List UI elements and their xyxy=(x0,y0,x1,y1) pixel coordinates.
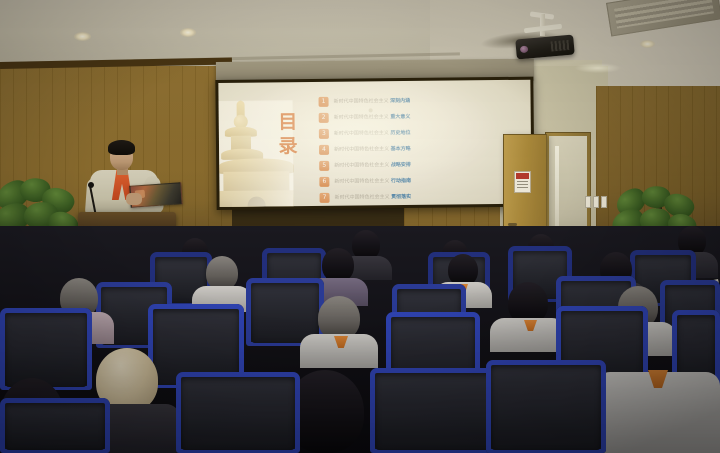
toc-item-text: 新时代中国特色社会主义 行动指南 xyxy=(334,175,411,186)
toc-number-badge: 7 xyxy=(320,192,330,202)
toc-number-badge: 6 xyxy=(319,176,329,186)
ceiling-light-spot xyxy=(575,63,621,73)
downlight-icon xyxy=(640,40,655,48)
light-switch[interactable] xyxy=(585,196,591,208)
microphone-icon xyxy=(88,182,94,188)
screen-surface: 目录 1 新时代中国特色社会主义 深刻内涵 2 新时代中国特色社会主义 重大意义… xyxy=(218,80,531,207)
slide-toc-list: 1 新时代中国特色社会主义 深刻内涵 2 新时代中国特色社会主义 重大意义 3 … xyxy=(318,92,519,206)
seat[interactable] xyxy=(486,360,606,453)
toc-number-badge: 3 xyxy=(319,128,329,138)
toc-item-text: 新时代中国特色社会主义 贯彻落实 xyxy=(335,191,412,202)
toc-number-badge: 2 xyxy=(319,112,329,122)
toc-item-text: 新时代中国特色社会主义 基本方略 xyxy=(334,143,411,154)
toc-item-text: 新时代中国特色社会主义 战略安排 xyxy=(334,159,411,170)
list-item: 7 新时代中国特色社会主义 贯彻落实 xyxy=(319,188,519,205)
toc-number-badge: 4 xyxy=(319,144,329,154)
projector-lens xyxy=(520,45,529,53)
projection-screen: 目录 1 新时代中国特色社会主义 深刻内涵 2 新时代中国特色社会主义 重大意义… xyxy=(215,77,534,210)
toc-item-text: 新时代中国特色社会主义 重大意义 xyxy=(334,111,411,122)
toc-number-badge: 1 xyxy=(318,96,328,106)
notice-poster xyxy=(514,171,531,193)
light-switch[interactable] xyxy=(601,196,607,208)
downlight-icon xyxy=(180,28,196,37)
seat[interactable] xyxy=(176,372,300,453)
list-item: 2 新时代中国特色社会主义 重大意义 xyxy=(319,108,519,125)
toc-number-badge: 5 xyxy=(319,160,329,170)
list-item: 3 新时代中国特色社会主义 历史地位 xyxy=(319,124,519,141)
attendee-head xyxy=(322,248,354,282)
light-switch-panel[interactable] xyxy=(585,196,607,208)
list-item: 6 新时代中国特色社会主义 行动指南 xyxy=(319,172,519,189)
toc-item-text: 新时代中国特色社会主义 深刻内涵 xyxy=(333,95,410,106)
list-item: 4 新时代中国特色社会主义 基本方略 xyxy=(319,140,519,157)
projector-vent xyxy=(551,40,570,52)
seat[interactable] xyxy=(0,398,110,453)
seat[interactable] xyxy=(370,368,498,453)
list-item: 5 新时代中国特色社会主义 战略安排 xyxy=(319,156,519,173)
attendee-head xyxy=(206,256,238,290)
downlight-icon xyxy=(74,32,91,41)
seat[interactable] xyxy=(0,308,92,390)
list-item: 1 新时代中国特色社会主义 深刻内涵 xyxy=(318,92,518,109)
light-switch[interactable] xyxy=(593,196,599,208)
conference-room-photo: 目录 1 新时代中国特色社会主义 深刻内涵 2 新时代中国特色社会主义 重大意义… xyxy=(0,0,720,453)
speaker-hair xyxy=(108,140,135,155)
slide-title: 目录 xyxy=(271,110,306,158)
toc-item-text: 新时代中国特色社会主义 历史地位 xyxy=(334,127,411,138)
